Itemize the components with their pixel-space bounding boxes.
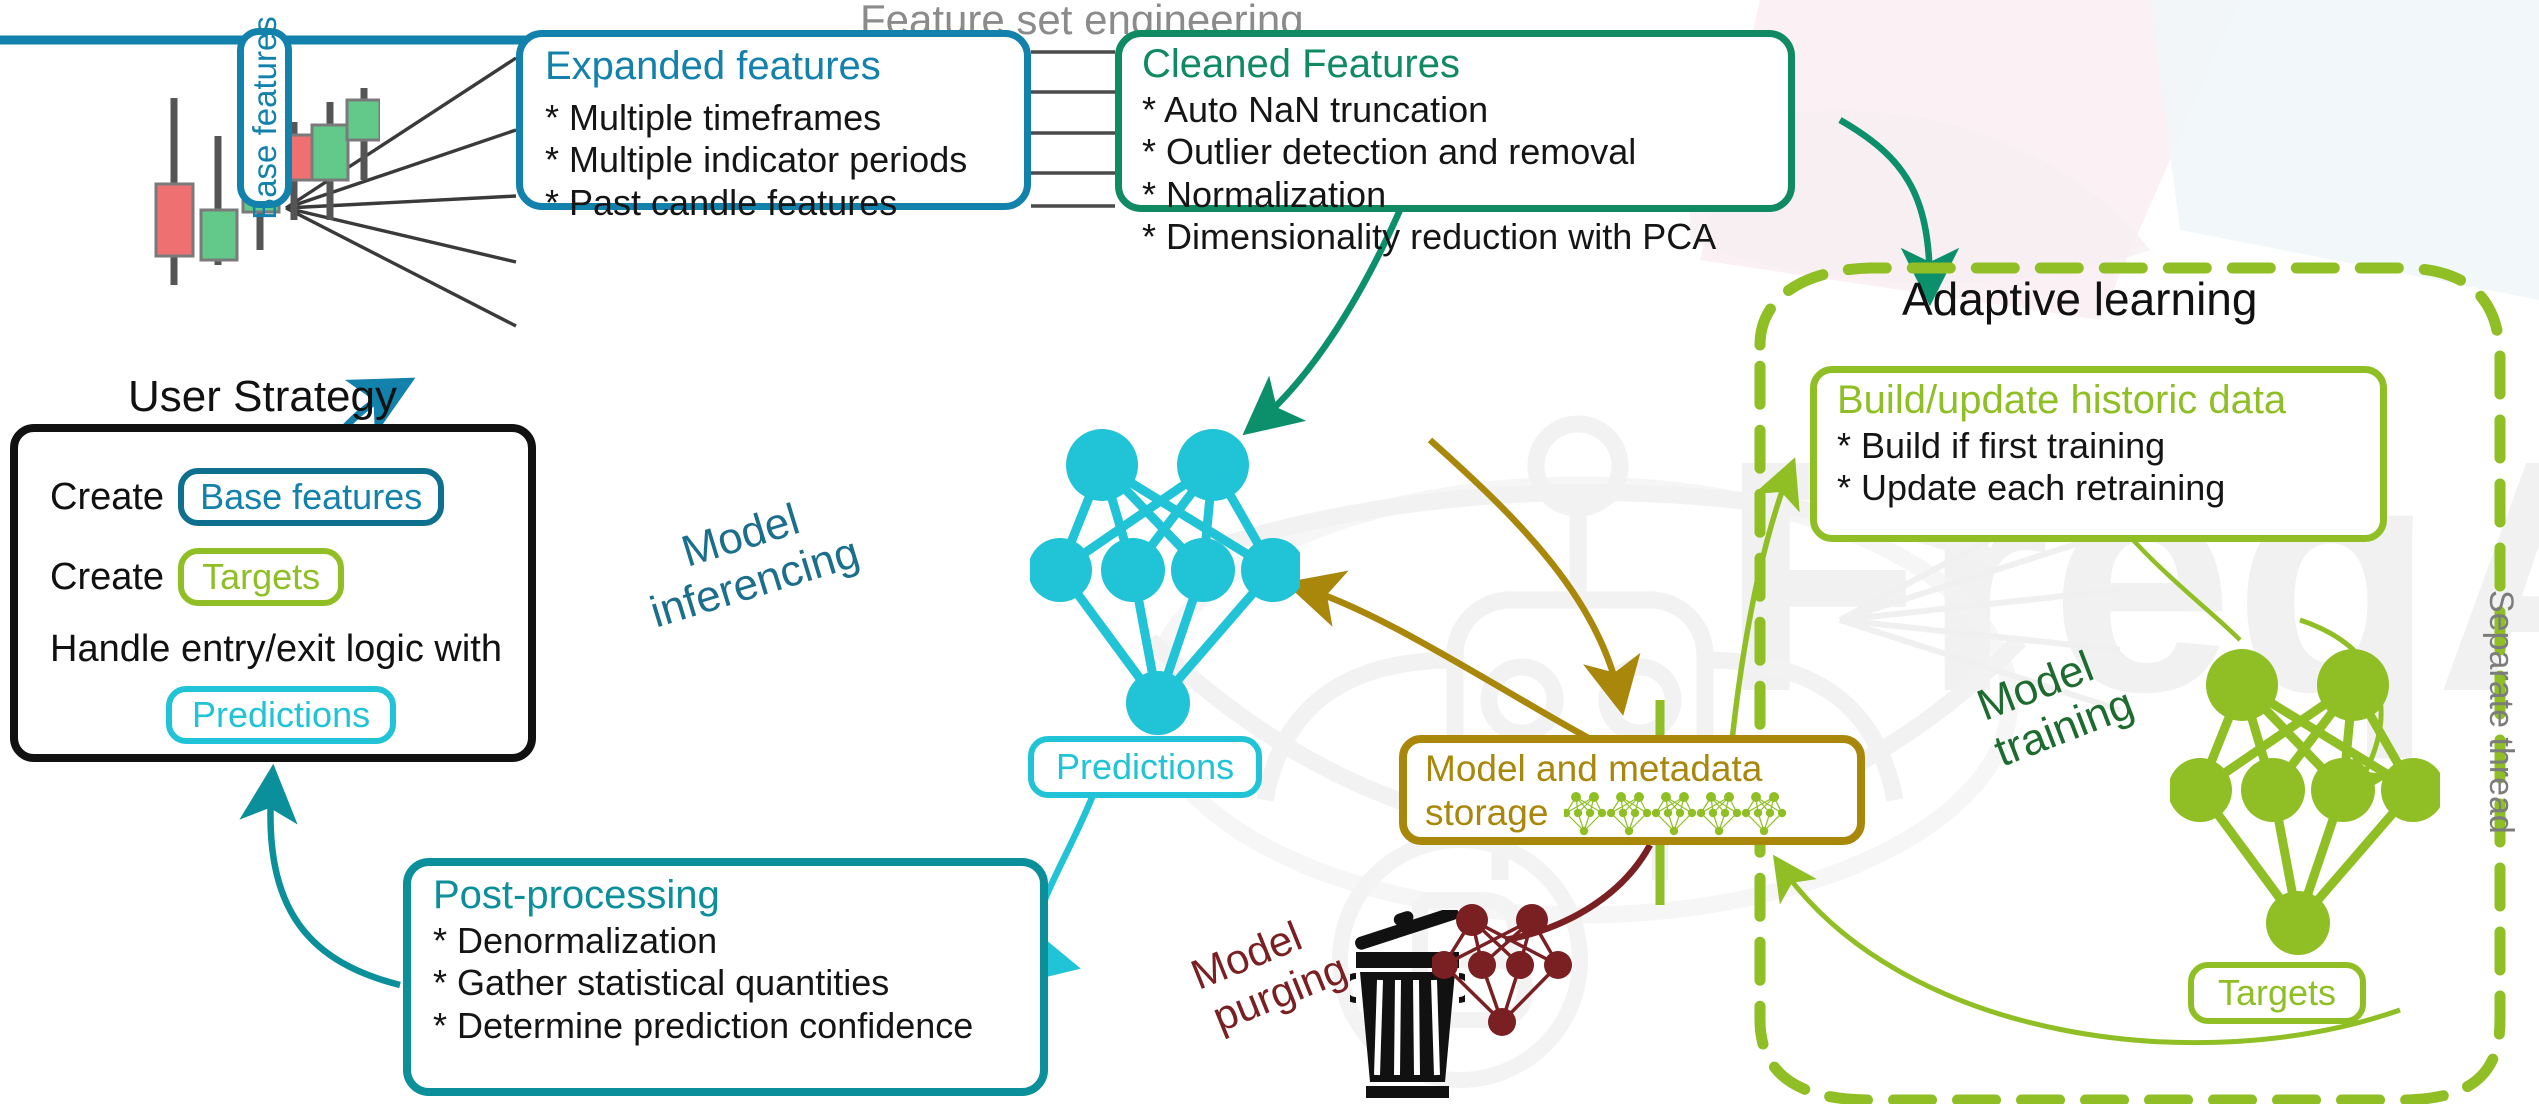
base-features-tag[interactable]: Base features bbox=[178, 468, 444, 526]
create-label-1: Create bbox=[50, 476, 164, 519]
cleaned-features-box[interactable]: Cleaned Features * Auto NaN truncation *… bbox=[1115, 30, 1795, 212]
strategy-line-targets: Create Targets bbox=[50, 548, 344, 606]
targets-label-box[interactable]: Targets bbox=[2188, 962, 2366, 1024]
strategy-line-entry-exit: Handle entry/exit logic with bbox=[50, 628, 502, 671]
historic-data-title: Build/update historic data bbox=[1837, 379, 2360, 421]
expanded-features-title: Expanded features bbox=[545, 45, 1002, 87]
post-processing-box[interactable]: Post-processing * Denormalization * Gath… bbox=[403, 858, 1048, 1096]
post-processing-bullet-1: * Gather statistical quantities bbox=[433, 962, 1018, 1004]
separate-thread-label: Separate thread bbox=[2481, 590, 2520, 834]
neural-network-row-icon bbox=[1564, 789, 1794, 837]
cleaned-features-bullet-3: * Dimensionality reduction with PCA bbox=[1142, 216, 1768, 258]
neural-network-icon-green bbox=[2170, 640, 2440, 970]
expanded-features-box[interactable]: Expanded features * Multiple timeframes … bbox=[516, 30, 1031, 210]
base-features-label: Base features bbox=[246, 16, 284, 220]
create-label-2: Create bbox=[50, 556, 164, 599]
freqai-architecture-diagram: FreqAI bbox=[0, 0, 2539, 1104]
cleaned-features-bullet-2: * Normalization bbox=[1142, 174, 1768, 216]
user-strategy-title: User Strategy bbox=[128, 372, 397, 422]
adaptive-learning-title: Adaptive learning bbox=[1902, 272, 2257, 326]
model-storage-box[interactable]: Model and metadata storage bbox=[1399, 735, 1865, 845]
predictions-tag[interactable]: Predictions bbox=[166, 686, 396, 744]
cleaned-features-bullet-0: * Auto NaN truncation bbox=[1142, 89, 1768, 131]
post-processing-title: Post-processing bbox=[433, 874, 1018, 916]
base-features-pill[interactable]: Base features bbox=[237, 28, 292, 208]
expanded-features-bullet-0: * Multiple timeframes bbox=[545, 97, 1002, 139]
user-strategy-box[interactable]: Create Base features Create Targets Hand… bbox=[10, 424, 536, 762]
model-storage-line1: Model and metadata bbox=[1425, 749, 1839, 789]
post-processing-bullet-2: * Determine prediction confidence bbox=[433, 1005, 1018, 1047]
arrow-postproc-to-strategy bbox=[270, 780, 400, 985]
post-processing-bullet-0: * Denormalization bbox=[433, 920, 1018, 962]
historic-data-bullet-1: * Update each retraining bbox=[1837, 467, 2360, 509]
arrow-storage-to-network bbox=[1300, 587, 1592, 740]
cleaned-features-bullet-1: * Outlier detection and removal bbox=[1142, 131, 1768, 173]
model-storage-line2: storage bbox=[1425, 793, 1548, 833]
cleaned-features-title: Cleaned Features bbox=[1142, 43, 1768, 85]
strategy-line-base-features: Create Base features bbox=[50, 468, 444, 526]
predictions-label-box[interactable]: Predictions bbox=[1028, 736, 1262, 798]
links-expanded-to-cleaned bbox=[1031, 52, 1115, 206]
neural-network-icon-maroon bbox=[1432, 900, 1582, 1045]
targets-tag[interactable]: Targets bbox=[178, 548, 344, 606]
expanded-features-bullet-2: * Past candle features bbox=[545, 182, 1002, 224]
historic-data-bullet-0: * Build if first training bbox=[1837, 425, 2360, 467]
neural-network-icon-cyan bbox=[1030, 420, 1300, 750]
historic-data-box[interactable]: Build/update historic data * Build if fi… bbox=[1810, 366, 2387, 542]
expanded-features-bullet-1: * Multiple indicator periods bbox=[545, 139, 1002, 181]
